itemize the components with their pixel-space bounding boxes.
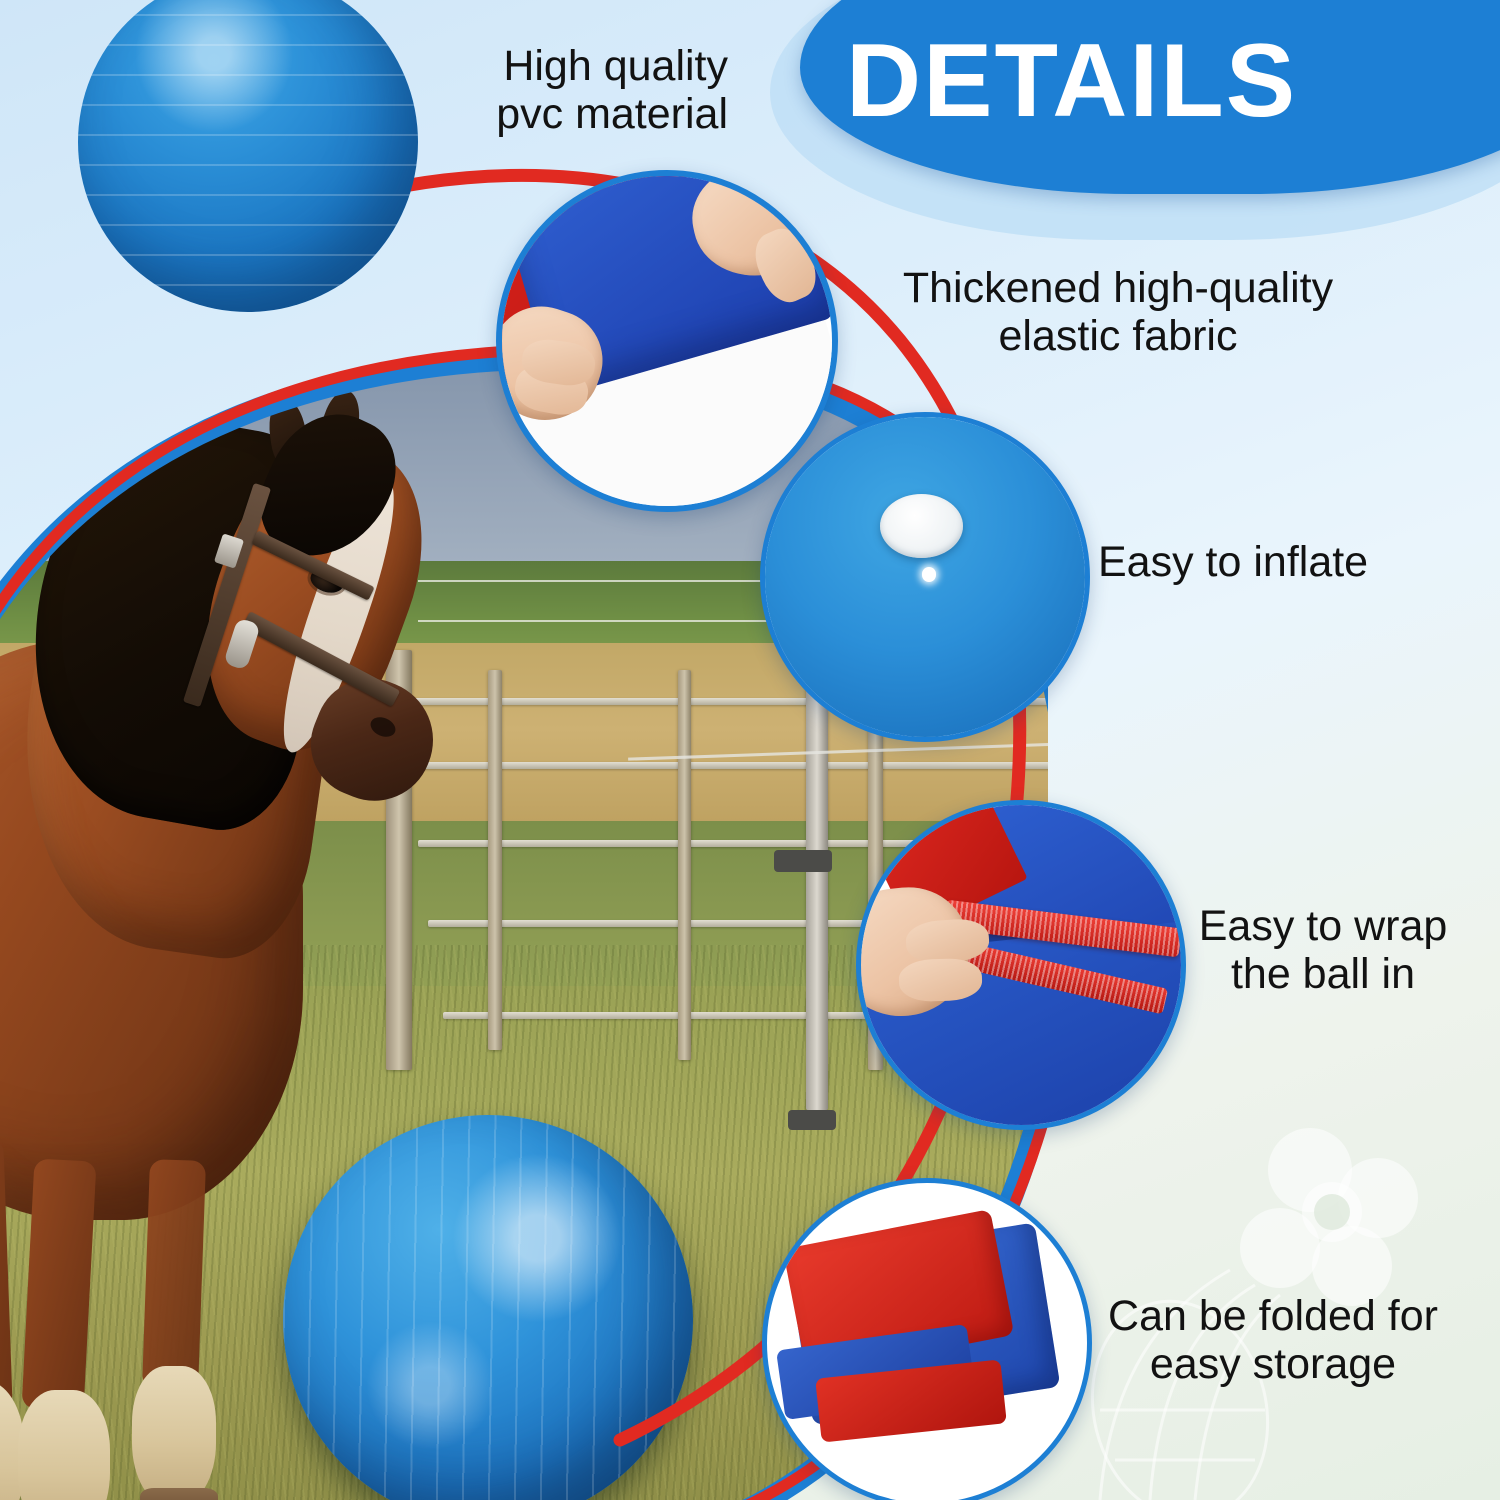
feature-label-elastic-fabric: Thickened high-quality elastic fabric	[838, 264, 1398, 360]
blue-exercise-ball-icon	[283, 1115, 693, 1500]
feature-label-easy-inflate: Easy to inflate	[1098, 538, 1498, 586]
finger	[899, 957, 984, 1001]
inflation-valve-icon	[880, 494, 963, 558]
callout-folded-storage[interactable]	[762, 1178, 1092, 1500]
feature-label-folded-storage: Can be folded for easy storage	[1058, 1292, 1488, 1388]
callout-pvc-material[interactable]	[78, 0, 418, 312]
feature-label-pvc-material: High quality pvc material	[418, 42, 728, 138]
ball-ribs	[78, 0, 418, 312]
callout-easy-wrap[interactable]	[856, 800, 1186, 1130]
details-banner-title: DETAILS	[846, 16, 1500, 146]
callout-easy-inflate[interactable]	[760, 412, 1090, 742]
valve-highlight	[922, 567, 936, 581]
product-detail-image: DETAILS	[0, 0, 1500, 1500]
feature-label-easy-wrap: Easy to wrap the ball in	[1158, 902, 1488, 998]
